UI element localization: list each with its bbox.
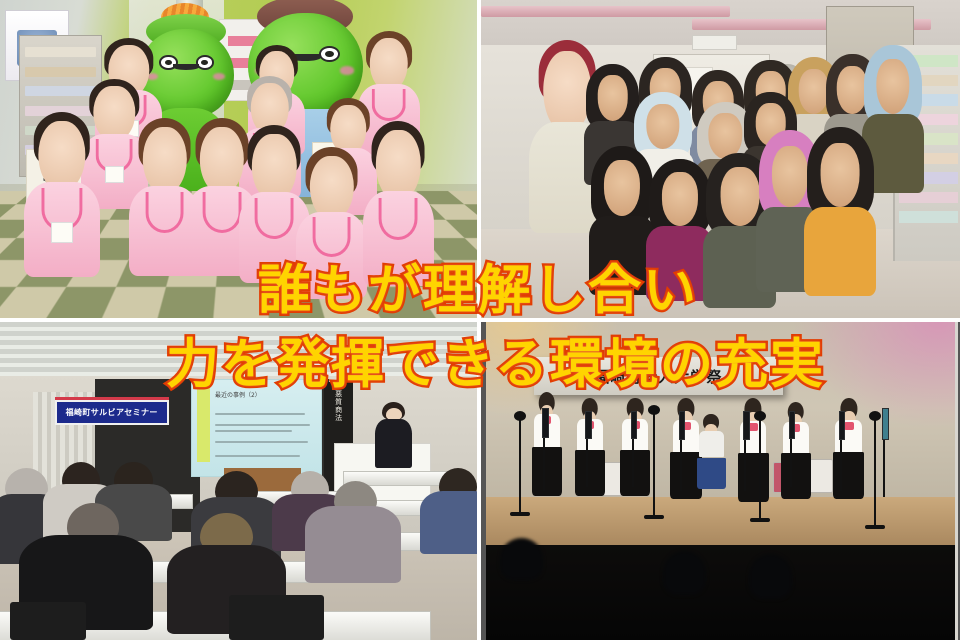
lanyard xyxy=(255,198,294,239)
face xyxy=(604,160,640,216)
face xyxy=(720,167,759,226)
microphone-icon xyxy=(653,411,655,516)
overlay-headline-line1: 誰もが理解し合い xyxy=(258,248,698,324)
name-badge xyxy=(51,222,73,244)
music-stand xyxy=(883,408,885,497)
face xyxy=(142,127,186,194)
mascot-blush-right xyxy=(340,66,355,74)
seated-player xyxy=(699,414,724,490)
music-stand xyxy=(680,411,682,491)
attendee xyxy=(305,506,400,582)
face xyxy=(38,121,85,191)
music-stand xyxy=(632,411,634,487)
face xyxy=(543,51,591,133)
music-stand xyxy=(840,411,842,491)
face xyxy=(94,86,135,142)
face xyxy=(370,38,408,91)
face xyxy=(252,134,296,201)
face xyxy=(821,143,860,207)
performer xyxy=(783,402,809,497)
lanyard xyxy=(145,192,184,233)
person-volunteer xyxy=(24,121,100,274)
face xyxy=(200,127,244,194)
stage-floor xyxy=(486,497,955,548)
door-sign xyxy=(692,35,737,50)
face xyxy=(309,156,353,220)
lanyard xyxy=(371,89,406,122)
audience-silhouette xyxy=(749,554,792,599)
seminar-banner-label: 福崎町サルビアセミナー xyxy=(66,407,158,418)
mascot-blush-right xyxy=(213,73,225,80)
chair xyxy=(229,595,324,640)
performer xyxy=(673,398,700,497)
music-stand xyxy=(790,411,792,487)
music-stand xyxy=(543,408,545,491)
face xyxy=(597,75,628,121)
audience-silhouette xyxy=(663,551,706,596)
name-badge xyxy=(105,166,124,184)
face xyxy=(376,130,420,200)
audience-silhouette xyxy=(500,538,543,579)
mascot-eye-right xyxy=(319,46,340,62)
person xyxy=(807,127,874,286)
presenter xyxy=(372,402,415,472)
face xyxy=(876,59,909,115)
microphone-icon xyxy=(874,417,876,525)
ceiling-pipe xyxy=(481,6,730,17)
mascot-mouth xyxy=(173,64,200,70)
face xyxy=(772,146,808,207)
microphone-icon xyxy=(519,417,521,512)
lanyard xyxy=(379,198,418,241)
attendee xyxy=(420,491,477,555)
music-stand xyxy=(744,411,746,491)
photo-collage: 受付 xyxy=(0,0,960,640)
face xyxy=(799,69,830,115)
microphone-icon xyxy=(759,417,761,519)
face xyxy=(646,104,679,150)
face xyxy=(837,66,868,114)
lanyard xyxy=(202,192,241,233)
top xyxy=(804,207,876,296)
music-stand xyxy=(586,411,588,487)
seminar-banner: 福崎町サルビアセミナー xyxy=(55,400,169,425)
audience-pit xyxy=(486,545,955,640)
overlay-headline-line2: 力を発揮できる環境の充実 xyxy=(166,322,825,398)
chair xyxy=(10,602,86,640)
